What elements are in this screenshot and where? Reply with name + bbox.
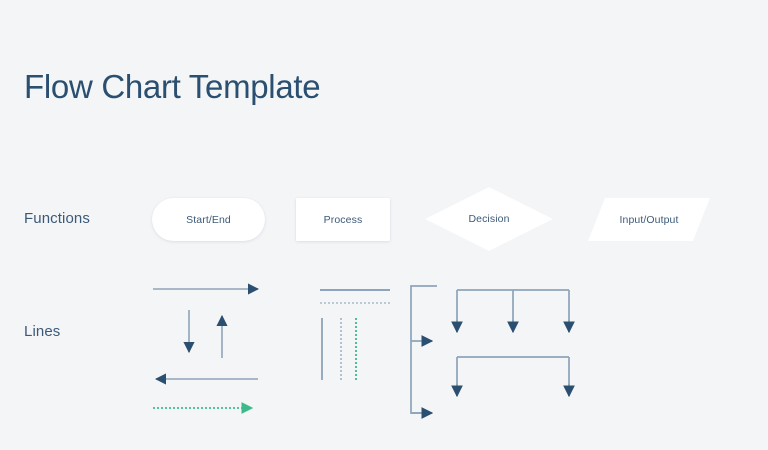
- slide-canvas: Flow Chart Template Functions Lines Star…: [0, 0, 768, 450]
- shape-input-output[interactable]: Input/Output: [588, 198, 710, 241]
- shape-input-output-label: Input/Output: [620, 214, 679, 226]
- shape-decision-label: Decision: [468, 213, 509, 225]
- connector-split-two-branch: [457, 357, 569, 396]
- connector-split-three-branch: [457, 290, 569, 332]
- shape-start-end-label: Start/End: [186, 214, 231, 226]
- shape-start-end[interactable]: Start/End: [152, 198, 265, 241]
- shape-process[interactable]: Process: [296, 198, 390, 241]
- shape-process-label: Process: [324, 214, 363, 226]
- row-label-lines: Lines: [24, 323, 60, 340]
- row-label-functions: Functions: [24, 210, 90, 227]
- page-title: Flow Chart Template: [24, 68, 320, 106]
- connector-bracket-two-branch: [411, 286, 437, 413]
- shape-decision[interactable]: Decision: [425, 187, 553, 251]
